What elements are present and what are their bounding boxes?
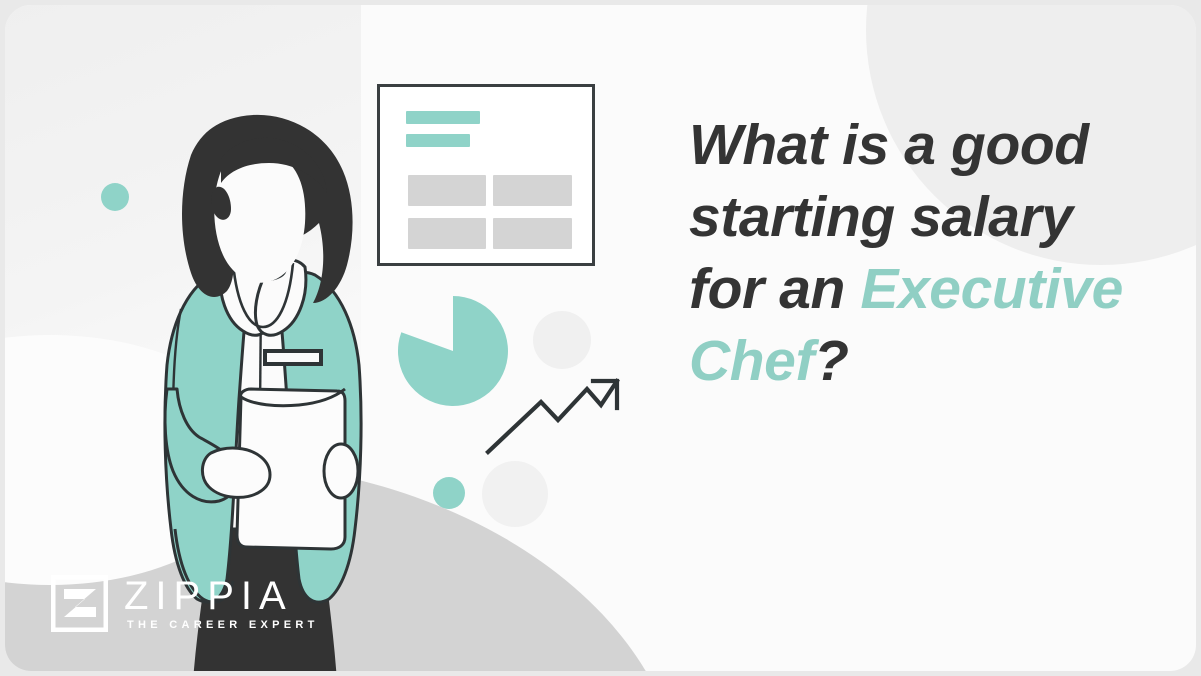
gray-dot-lower-icon [482,461,548,527]
table-header-bar-1 [406,111,480,124]
upward-trend-arrow-icon [483,375,623,457]
page-title: What is a good starting salary for an Ex… [689,109,1141,397]
table-cell-2 [493,175,572,206]
infographic-card: What is a good starting salary for an Ex… [5,5,1196,671]
zippia-logo-text: ZIPPIA THE CAREER EXPERT [124,575,319,632]
zippia-tagline: THE CAREER EXPERT [127,618,319,632]
zippia-wordmark: ZIPPIA [124,575,319,617]
zippia-z-mark-icon [51,575,108,632]
zippia-logo[interactable]: ZIPPIA THE CAREER EXPERT [51,575,319,632]
table-cell-1 [408,175,486,206]
gray-dot-upper-icon [533,311,591,369]
teal-dot-center-icon [433,477,465,509]
headline-part-2: ? [814,329,848,393]
table-cell-4 [493,218,572,249]
infographic-canvas: What is a good starting salary for an Ex… [0,0,1201,676]
table-cell-3 [408,218,486,249]
table-header-bar-2 [406,134,470,147]
